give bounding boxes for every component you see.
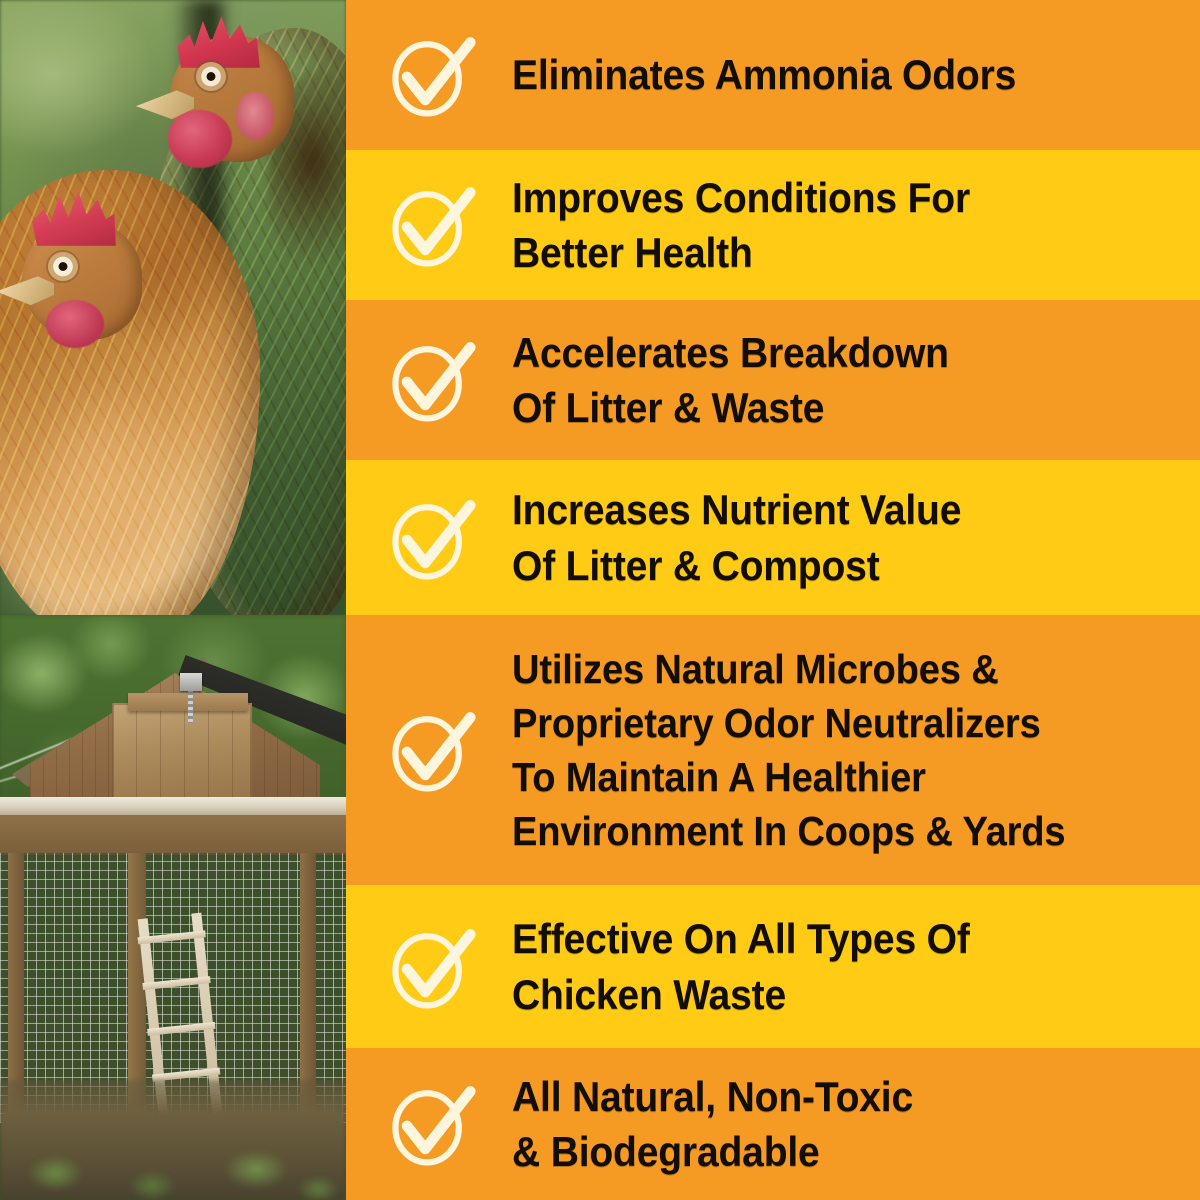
photo-column: [0, 0, 346, 1200]
check-circle-icon: [382, 27, 478, 123]
hen-rear-wattle: [168, 110, 232, 168]
benefit-text: Improves Conditions For Better Health: [512, 170, 970, 281]
check-circle-icon: [382, 490, 478, 586]
benefit-row: Accelerates Breakdown Of Litter & Waste: [346, 300, 1200, 460]
benefit-text: Eliminates Ammonia Odors: [512, 47, 1016, 102]
coop-sill: [0, 797, 346, 817]
check-circle-icon: [382, 702, 478, 798]
wooden-chicken-coop-photo: [0, 615, 346, 1200]
coop-latch: [180, 673, 202, 691]
benefit-text: Utilizes Natural Microbes & Proprietary …: [512, 642, 1065, 858]
coop-door-grain: [112, 703, 252, 801]
benefit-text: Increases Nutrient Value Of Litter & Com…: [512, 482, 961, 593]
benefit-row: All Natural, Non-Toxic & Biodegradable: [346, 1048, 1200, 1200]
hen-rear-earlobe: [236, 92, 274, 140]
benefit-row: Effective On All Types Of Chicken Waste: [346, 885, 1200, 1048]
benefit-row: Eliminates Ammonia Odors: [346, 0, 1200, 150]
coop-run-frame: [0, 815, 346, 855]
benefit-row: Improves Conditions For Better Health: [346, 150, 1200, 300]
coop-greenery: [0, 1110, 346, 1200]
check-circle-icon: [382, 919, 478, 1015]
benefit-row: Utilizes Natural Microbes & Proprietary …: [346, 615, 1200, 885]
product-benefits-infographic: Eliminates Ammonia Odors Improves Condit…: [0, 0, 1200, 1200]
hen-front-eye: [48, 252, 78, 281]
benefits-list: Eliminates Ammonia Odors Improves Condit…: [346, 0, 1200, 1200]
coop-chain: [188, 689, 193, 723]
check-circle-icon: [382, 332, 478, 428]
check-circle-icon: [382, 1076, 478, 1172]
benefit-row: Increases Nutrient Value Of Litter & Com…: [346, 460, 1200, 615]
two-brown-hens-photo: [0, 0, 346, 615]
hen-rear-eye: [196, 62, 226, 91]
check-circle-icon: [382, 177, 478, 273]
benefit-text: All Natural, Non-Toxic & Biodegradable: [512, 1069, 913, 1180]
benefit-text: Accelerates Breakdown Of Litter & Waste: [512, 325, 949, 436]
hen-front-wattle: [46, 300, 104, 348]
benefit-text: Effective On All Types Of Chicken Waste: [512, 911, 970, 1022]
